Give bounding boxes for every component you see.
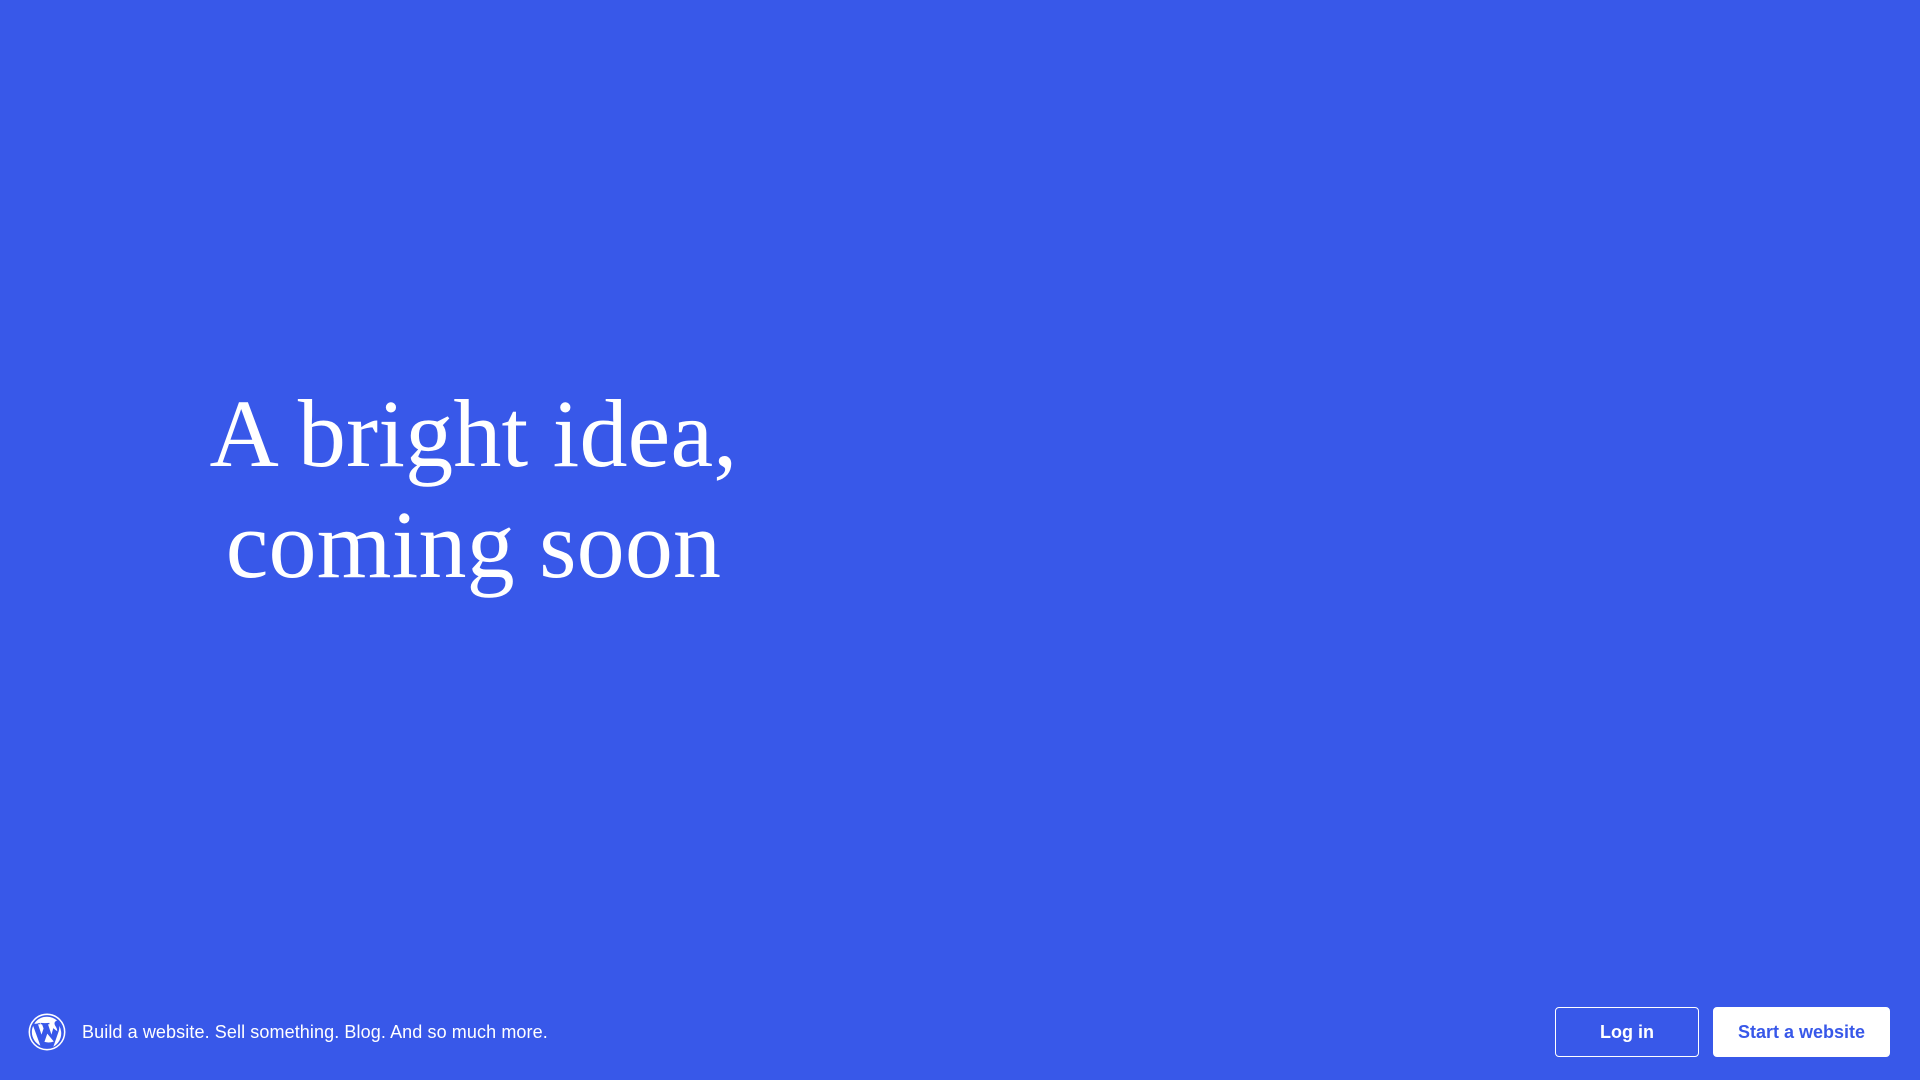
- hero-section: A bright idea, coming soon: [186, 378, 761, 601]
- coming-soon-stage: A bright idea, coming soon: [0, 0, 1920, 1080]
- footer-actions: Log in Start a website: [1555, 1007, 1890, 1057]
- footer-brand: Build a website. Sell something. Blog. A…: [28, 1013, 1555, 1051]
- wordpress-logo-icon[interactable]: [28, 1013, 66, 1051]
- log-in-button[interactable]: Log in: [1555, 1007, 1699, 1057]
- site-footer: Build a website. Sell something. Blog. A…: [0, 984, 1920, 1080]
- footer-tagline: Build a website. Sell something. Blog. A…: [82, 1022, 548, 1043]
- page-title: A bright idea, coming soon: [186, 378, 761, 601]
- start-a-website-button[interactable]: Start a website: [1713, 1007, 1890, 1057]
